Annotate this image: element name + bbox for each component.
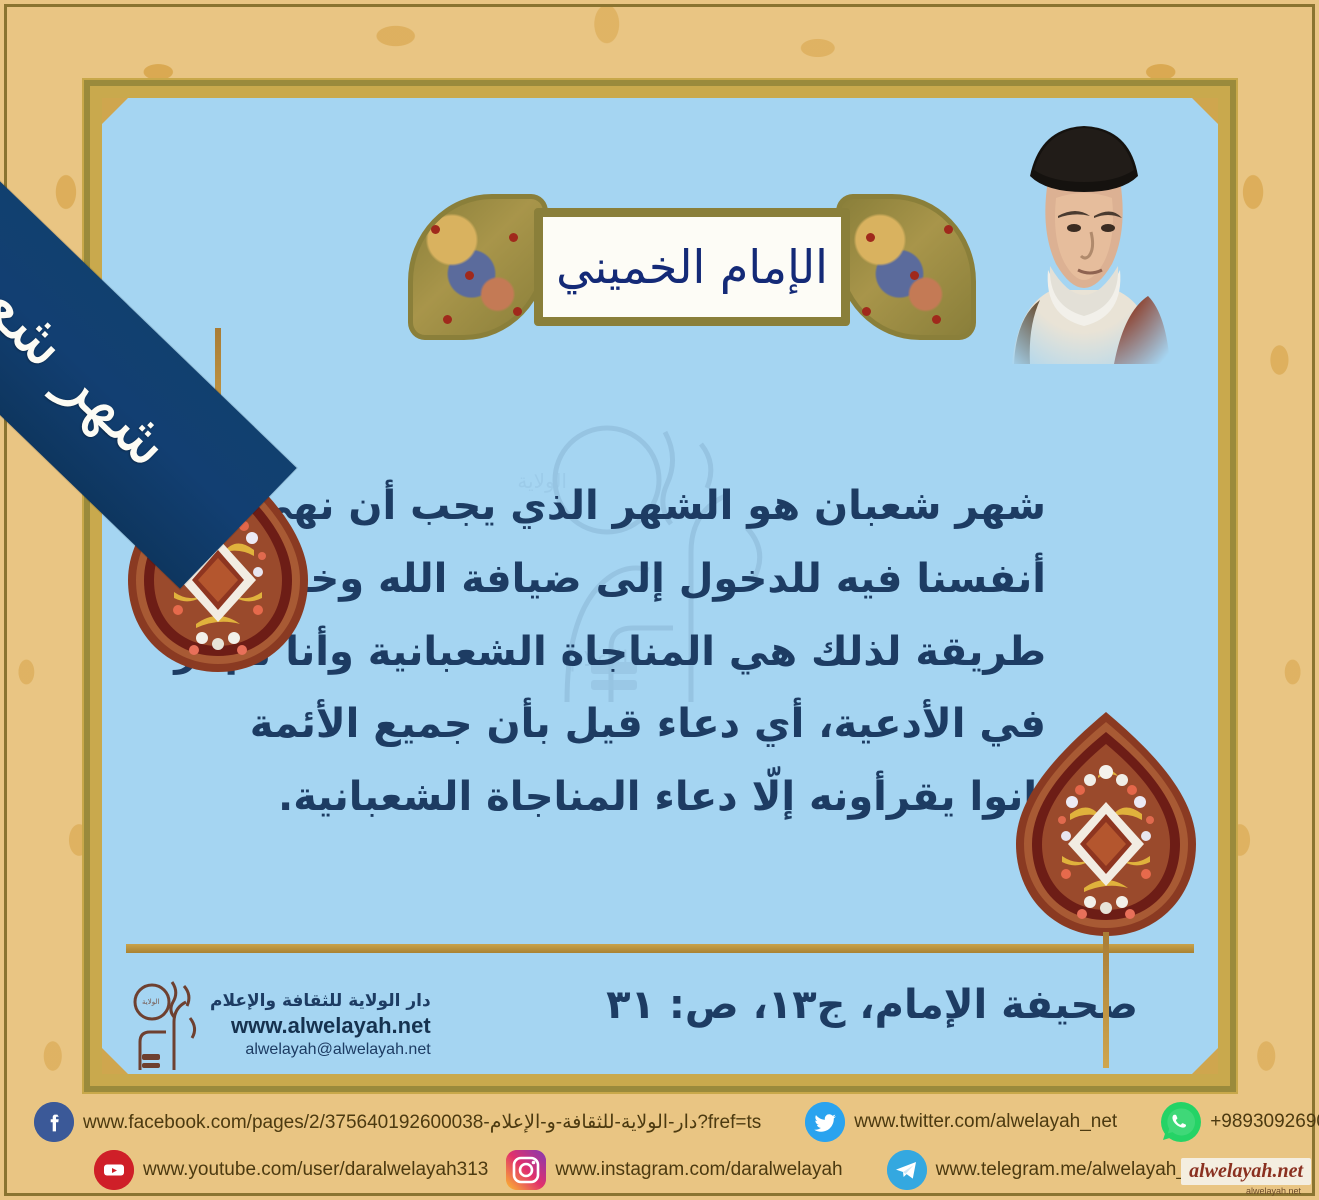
title-plaque: الإمام الخميني	[414, 184, 970, 350]
plaque-ornament-left	[408, 194, 548, 340]
corner-notch-top-right	[1192, 98, 1218, 124]
organization-block: الولاية دار الولاية للثقافة والإعلام www…	[128, 978, 431, 1074]
quote-line: في الأدعية، أي دعاء قيل بأن جميع الأئمة	[278, 688, 1046, 761]
organization-text: دار الولاية للثقافة والإعلام www.alwelay…	[210, 990, 431, 1062]
social-item-facebook[interactable]: www.facebook.com/pages/2/375640192600038…	[34, 1102, 761, 1142]
ornamental-medallion-right	[1014, 710, 1198, 938]
social-row-2: www.youtube.com/user/daralwelayah313	[34, 1146, 1285, 1194]
instagram-url: www.instagram.com/daralwelayah	[555, 1159, 842, 1181]
content-field: والإعلام الولاية	[102, 98, 1218, 1074]
dar-alwelayah-logo: الولاية	[128, 978, 200, 1074]
plaque-dot	[910, 271, 919, 280]
quote-line-text: كانوا يقرأونه إلّا دعاء المناجاة الشعبان…	[278, 761, 1062, 834]
organization-name-ar: دار الولاية للثقافة والإعلام	[210, 990, 431, 1013]
plaque-dot	[465, 271, 474, 280]
quote-line-text: أنفسنا فيه للدخول إلى ضيافة الله وخير	[269, 543, 1046, 616]
poster-frame-inner-gold: والإعلام الولاية	[90, 86, 1230, 1086]
imam-khomeini-portrait	[996, 120, 1172, 364]
social-item-whatsapp[interactable]: +989309269084	[1161, 1102, 1319, 1142]
social-item-instagram[interactable]: www.instagram.com/daralwelayah	[506, 1150, 842, 1190]
corner-notch-top-left	[102, 98, 128, 124]
facebook-url: www.facebook.com/pages/2/375640192600038…	[83, 1111, 761, 1134]
plaque-dot	[932, 315, 941, 324]
poster-root: والإعلام الولاية	[0, 0, 1319, 1200]
instagram-icon	[506, 1150, 546, 1190]
plaque-dot	[509, 233, 518, 242]
svg-text:الولاية: الولاية	[142, 998, 159, 1006]
site-watermark-stamp: alwelayah.net alwelayah.net	[1181, 1158, 1311, 1196]
organization-email: alwelayah@alwelayah.net	[210, 1039, 431, 1061]
quote-block: شهر شعبان هو الشهر الذي يجب أن نهيء أنفس…	[278, 470, 1046, 834]
plaque-dot	[431, 225, 440, 234]
twitter-icon	[805, 1102, 845, 1142]
facebook-icon	[34, 1102, 74, 1142]
title-calligraphy-text: الإمام الخميني	[556, 240, 828, 294]
quote-line: أنفسنا فيه للدخول إلى ضيافة الله وخير	[278, 543, 1046, 616]
twitter-url: www.twitter.com/alwelayah_net	[854, 1111, 1117, 1133]
watermark-small-text: alwelayah.net	[1181, 1186, 1301, 1196]
telegram-icon	[887, 1150, 927, 1190]
social-item-twitter[interactable]: www.twitter.com/alwelayah_net	[805, 1102, 1117, 1142]
title-card: الإمام الخميني	[534, 208, 850, 326]
quote-line-text: شهر شعبان هو الشهر الذي يجب أن نهيء	[232, 470, 1046, 543]
social-item-youtube[interactable]: www.youtube.com/user/daralwelayah313	[94, 1150, 488, 1190]
plaque-dot	[443, 315, 452, 324]
youtube-url: www.youtube.com/user/daralwelayah313	[143, 1159, 488, 1181]
quote-line: شهر شعبان هو الشهر الذي يجب أن نهيء	[278, 470, 1046, 543]
corner-notch-bottom-right	[1192, 1048, 1218, 1074]
whatsapp-number: +989309269084	[1210, 1111, 1319, 1133]
quote-line-text: في الأدعية، أي دعاء قيل بأن جميع الأئمة	[250, 688, 1046, 761]
watermark-large-text: alwelayah.net	[1181, 1158, 1311, 1185]
quote-line: طريقة لذلك هي المناجاة الشعبانية وأنا لم…	[278, 616, 1046, 689]
medallion-stem	[1103, 932, 1109, 1068]
poster-frame: والإعلام الولاية	[84, 80, 1236, 1092]
social-footer: www.facebook.com/pages/2/375640192600038…	[0, 1092, 1319, 1200]
plaque-dot	[944, 225, 953, 234]
youtube-icon	[94, 1150, 134, 1190]
plaque-ornament-right	[836, 194, 976, 340]
social-item-telegram[interactable]: www.telegram.me/alwelayah_net	[887, 1150, 1214, 1190]
organization-website: www.alwelayah.net	[210, 1013, 431, 1039]
social-row-1: www.facebook.com/pages/2/375640192600038…	[34, 1098, 1285, 1146]
quote-line: كانوا يقرأونه إلّا دعاء المناجاة الشعبان…	[278, 761, 1046, 834]
plaque-dot	[866, 233, 875, 242]
source-citation: صحيفة الإمام، ج١٣، ص: ٣١	[606, 982, 1138, 1028]
gold-divider	[126, 944, 1194, 953]
corner-notch-bottom-left	[102, 1048, 128, 1074]
plaque-dot	[513, 307, 522, 316]
whatsapp-icon	[1161, 1102, 1201, 1142]
plaque-dot	[862, 307, 871, 316]
telegram-url: www.telegram.me/alwelayah_net	[936, 1159, 1214, 1181]
